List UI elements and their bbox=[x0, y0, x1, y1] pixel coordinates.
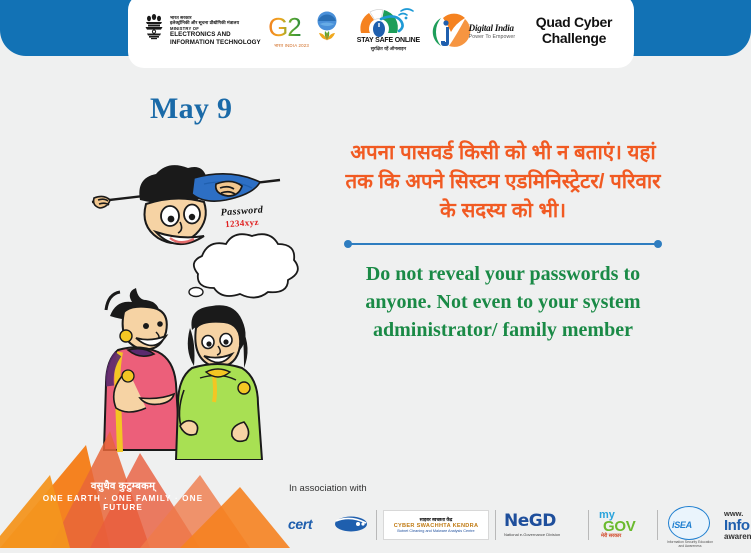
meity-text-block: भारत सरकार इलेक्ट्रॉनिकी और सूचना प्रौद्… bbox=[170, 15, 261, 48]
stay-safe-online-logo: STAY SAFE ONLINE सुरक्षित रहें ऑनलाइन bbox=[351, 5, 425, 57]
g20-lotus-globe-icon bbox=[310, 10, 344, 42]
mouse-wifi-speedometer-icon bbox=[357, 5, 421, 37]
header-logo-card: भारत सरकार इलेक्ट्रॉनिकी और सूचना प्रौद्… bbox=[128, 0, 634, 68]
cyber-swachhta-kendra-logo: साइबर स्वच्छता केंद्र CYBER SWACHHTA KEN… bbox=[383, 510, 489, 540]
footer-separator bbox=[495, 510, 496, 540]
g20-motto: वसुधैव कुटुम्बकम् ONE EARTH · ONE FAMILY… bbox=[38, 478, 208, 512]
isea-subtitle: Information Security Education and Aware… bbox=[666, 540, 714, 548]
g20-wordmark: G2 bbox=[268, 12, 301, 43]
negd-subtitle: National e-Governance Division bbox=[504, 532, 560, 537]
g20-logo: G2 भारत INDIA 2023 bbox=[266, 8, 346, 54]
g20-motto-devanagari: वसुधैव कुटुम्बकम् bbox=[38, 478, 208, 492]
in-association-with-label: In association with bbox=[289, 483, 367, 494]
digital-india-tagline: Power To Empower bbox=[469, 34, 515, 40]
infosec-awareness-logo: www. Info Sec awareness.in bbox=[722, 509, 751, 541]
digital-india-title: Digital India bbox=[469, 23, 514, 33]
message-column: अपना पासवर्ड किसी को भी न बताएं। यहां तक… bbox=[338, 138, 668, 344]
negd-wordmark: NeGD bbox=[504, 511, 556, 531]
cert-in-logo: cert bbox=[282, 512, 370, 538]
india-national-emblem-icon bbox=[142, 11, 166, 51]
cartoon-illustration bbox=[84, 140, 324, 460]
illustration-svg bbox=[84, 140, 324, 460]
cert-in-swoosh-icon bbox=[334, 515, 368, 533]
stay-safe-online-title: STAY SAFE ONLINE bbox=[351, 37, 425, 44]
divider-dot-right bbox=[654, 240, 662, 248]
cert-in-wordmark: cert bbox=[288, 516, 312, 532]
csk-subtitle: Botnet Cleaning and Malware Analysis Cen… bbox=[397, 529, 474, 533]
infosec-domain: awareness.in bbox=[724, 532, 751, 541]
message-english: Do not reveal your passwords to anyone. … bbox=[338, 261, 668, 344]
meity-line2: INFORMATION TECHNOLOGY bbox=[170, 39, 261, 47]
digital-india-logo: Digital India Power To Empower bbox=[431, 10, 523, 52]
meity-logo: भारत सरकार इलेक्ट्रॉनिकी और सूचना प्रौद्… bbox=[142, 11, 261, 51]
message-hindi: अपना पासवर्ड किसी को भी न बताएं। यहां तक… bbox=[338, 138, 668, 225]
footer-separator bbox=[376, 510, 377, 540]
footer-logo-strip: cert साइबर स्वच्छता केंद्र CYBER SWACHHT… bbox=[282, 503, 748, 547]
negd-logo: NeGD National e-Governance Division bbox=[502, 510, 582, 540]
mygov-logo: my GOV मेरी सरकार bbox=[595, 509, 651, 541]
quad-cyber-challenge-text: Quad Cyber Challenge bbox=[528, 15, 620, 46]
stay-safe-online-subtitle: सुरक्षित रहें ऑनलाइन bbox=[351, 46, 425, 52]
mygov-hindi: मेरी सरकार bbox=[601, 533, 621, 539]
divider-line bbox=[350, 243, 656, 245]
quad-cyber-challenge-label: Quad Cyber Challenge bbox=[528, 15, 620, 46]
digital-india-i-icon bbox=[431, 12, 471, 50]
isea-wordmark: iSEA bbox=[672, 520, 692, 530]
page-title-date: May 9 bbox=[150, 92, 232, 126]
g20-subtitle: भारत INDIA 2023 bbox=[274, 43, 309, 49]
isea-logo: iSEA Information Security Education and … bbox=[664, 505, 716, 545]
footer-separator bbox=[657, 510, 658, 540]
g20-motto-english: ONE EARTH · ONE FAMILY · ONE FUTURE bbox=[38, 494, 208, 512]
thought-bubble-text: Password 1234xyz bbox=[196, 206, 288, 228]
meity-line1: ELECTRONICS AND bbox=[170, 31, 261, 39]
divider bbox=[344, 239, 662, 249]
footer-separator bbox=[588, 510, 589, 540]
